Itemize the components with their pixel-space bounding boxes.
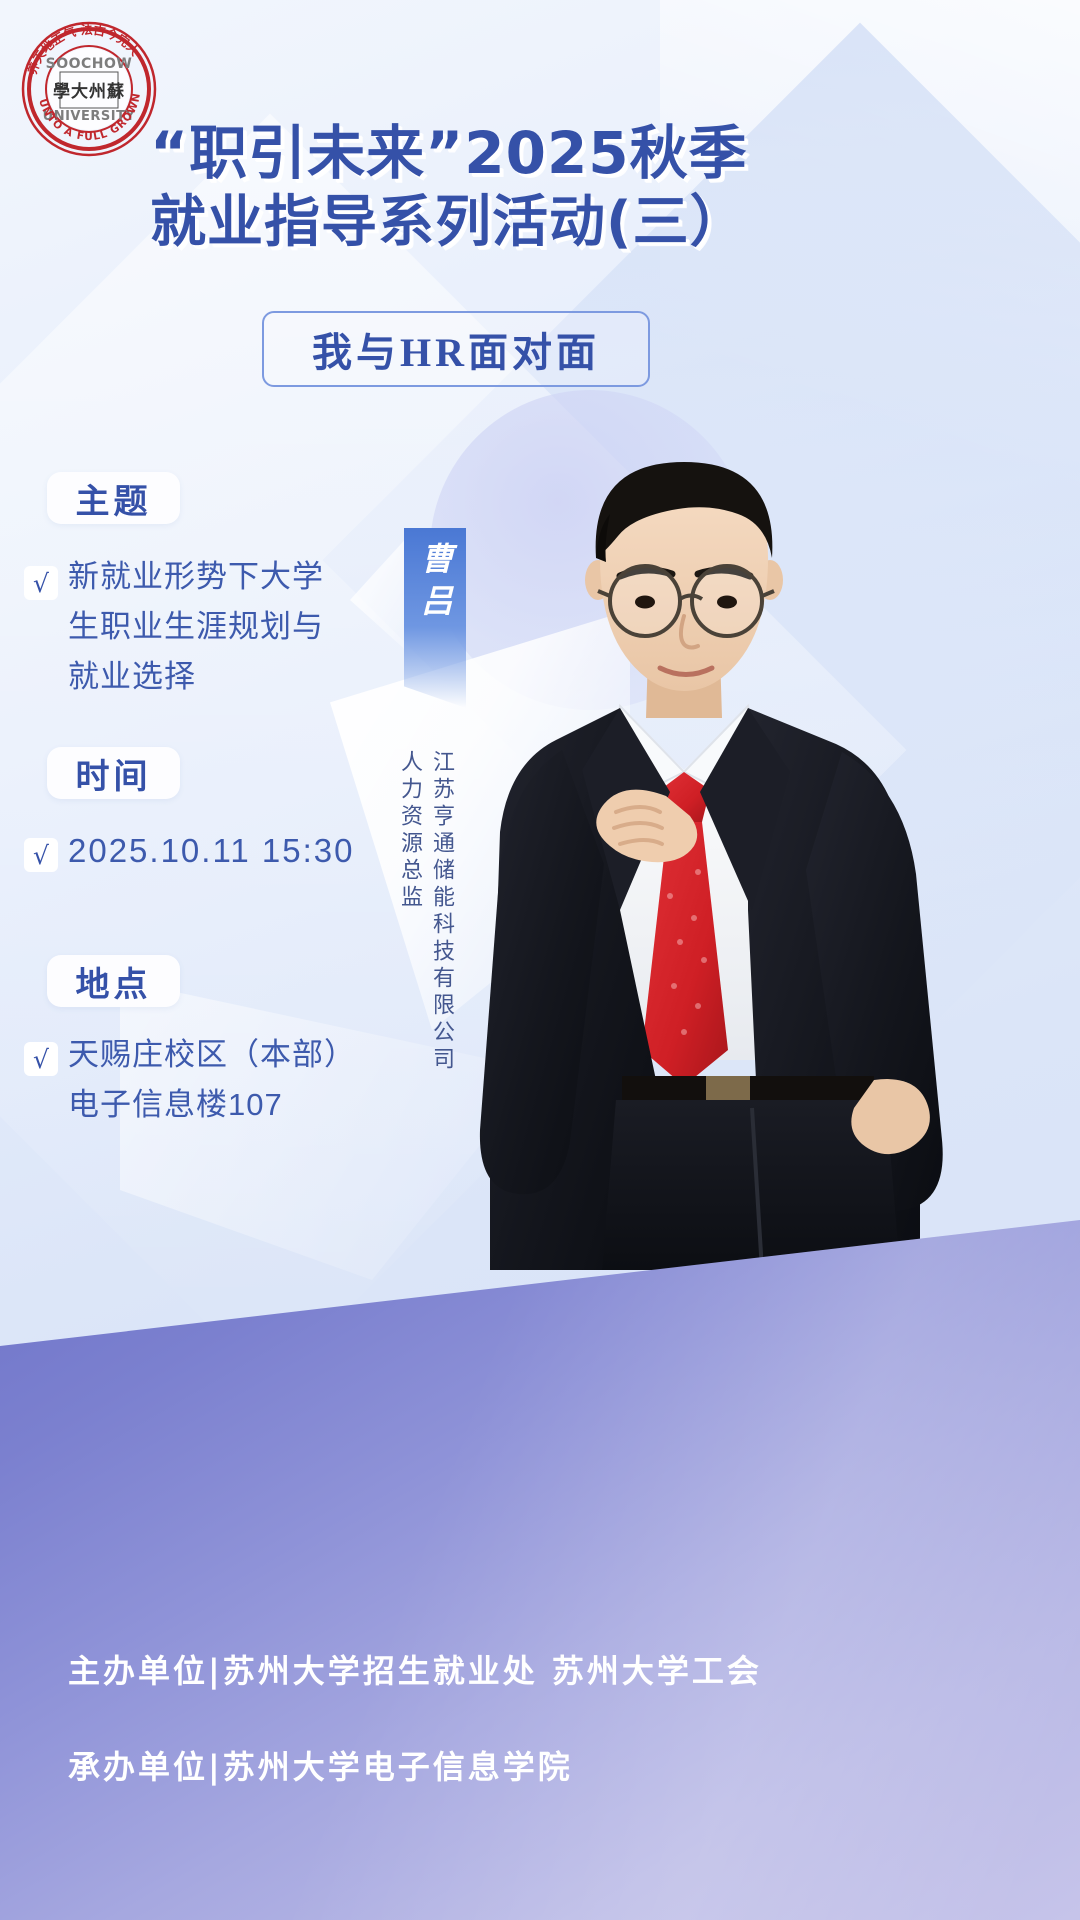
- check-icon-topic: √: [24, 566, 58, 600]
- section-label-time: 时间: [47, 747, 180, 799]
- speaker-company: 江苏亨通储能科技有限公司: [426, 750, 458, 1074]
- speaker-name: 曹吕: [412, 542, 458, 626]
- subtitle-box: 我与HR面对面: [262, 311, 650, 387]
- poster-root: SOOCHOW UNIVERSITY 學大州蘇 养天地正气 法古今完人 UNTO…: [0, 0, 1080, 1920]
- section-label-topic-text: 主题: [76, 474, 152, 523]
- speaker-photo: [470, 440, 1080, 1270]
- title-line-1: “职引未来”2025秋季: [150, 118, 810, 188]
- place-line-1: 天赐庄校区（本部）: [68, 1030, 368, 1080]
- time-line-1: 2025.10.11 15:30: [68, 826, 398, 876]
- poster-title: “职引未来”2025秋季 就业指导系列活动(三）: [150, 118, 810, 258]
- svg-text:學大州蘇: 學大州蘇: [53, 81, 125, 102]
- svg-text:SOOCHOW: SOOCHOW: [46, 56, 133, 72]
- section-body-time: 2025.10.11 15:30: [68, 826, 398, 876]
- section-label-place: 地点: [47, 955, 180, 1007]
- check-icon-place: √: [24, 1042, 58, 1076]
- footer-organizer: 主办单位|苏州大学招生就业处 苏州大学工会: [68, 1646, 762, 1692]
- subtitle-text: 我与HR面对面: [312, 320, 600, 378]
- topic-line-3: 就业选择: [68, 652, 343, 702]
- section-label-place-text: 地点: [76, 957, 152, 1006]
- section-label-topic: 主题: [47, 472, 180, 524]
- topic-line-2: 生职业生涯规划与: [68, 602, 343, 652]
- section-body-place: 天赐庄校区（本部） 电子信息楼107: [68, 1030, 368, 1130]
- footer-host: 承办单位|苏州大学电子信息学院: [68, 1742, 573, 1788]
- university-seal-logo: SOOCHOW UNIVERSITY 學大州蘇 养天地正气 法古今完人 UNTO…: [20, 20, 158, 158]
- section-label-time-text: 时间: [76, 749, 152, 798]
- section-body-topic: 新就业形势下大学 生职业生涯规划与 就业选择: [68, 552, 343, 702]
- footer-shine-overlay: [0, 1220, 1080, 1920]
- topic-line-1: 新就业形势下大学: [68, 552, 343, 602]
- check-icon-time: √: [24, 838, 58, 872]
- title-line-2: 就业指导系列活动(三）: [150, 188, 810, 258]
- place-line-2: 电子信息楼107: [68, 1080, 368, 1130]
- speaker-job-title: 人力资源总监: [394, 750, 426, 912]
